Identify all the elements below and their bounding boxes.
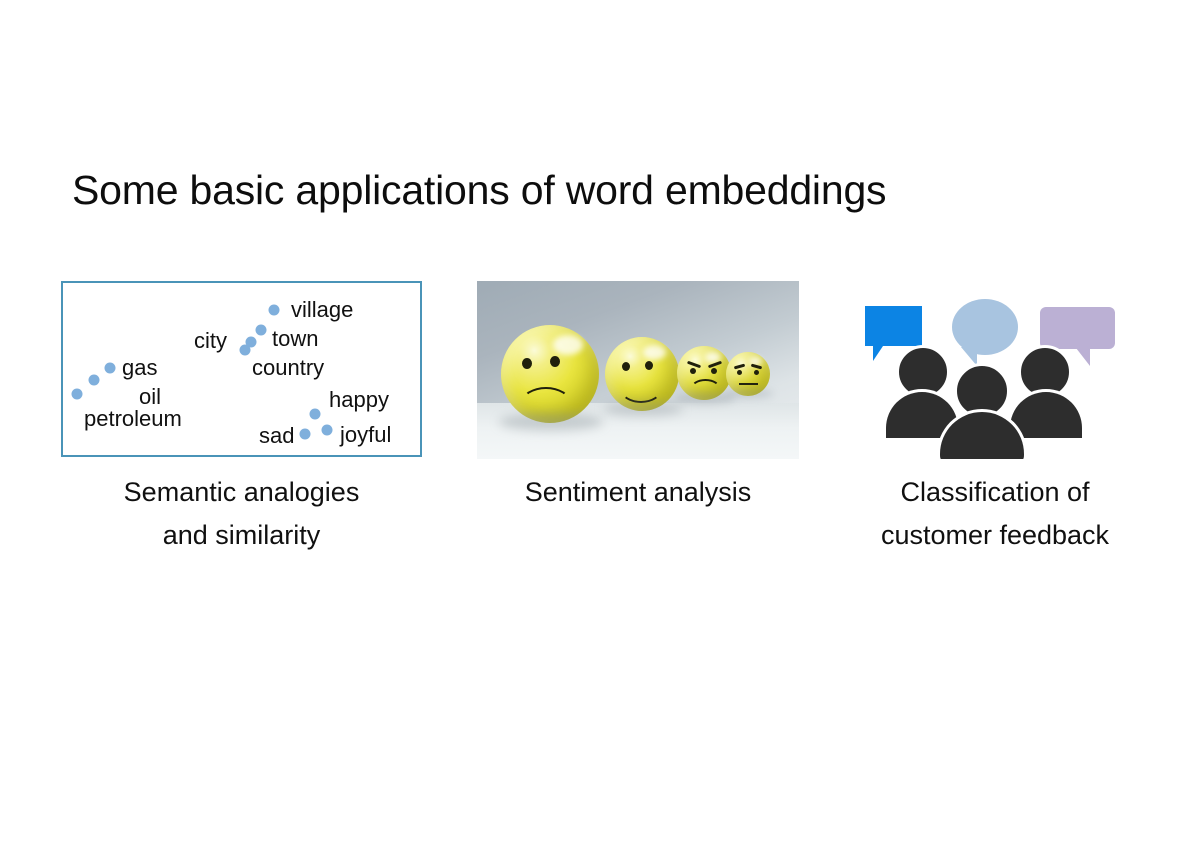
caption-line-1: Classification of xyxy=(851,471,1139,514)
scatter-dot-happy xyxy=(310,409,321,420)
ball-eye-right xyxy=(645,361,653,370)
caption-customer-feedback: Classification of customer feedback xyxy=(851,471,1139,557)
ball-shadow-happy xyxy=(603,402,683,416)
scatter-dot-village xyxy=(269,305,280,316)
caption-semantic-analogies: Semantic analogies and similarity xyxy=(61,471,422,557)
scatter-dot-joyful xyxy=(322,425,333,436)
caption-line-2: and similarity xyxy=(61,514,422,557)
caption-line-2: customer feedback xyxy=(851,514,1139,557)
ball-mouth-flat xyxy=(739,383,758,385)
word-embedding-scatter-plot: gas oil petroleum village city town coun… xyxy=(61,281,422,457)
speech-bubble-blue-icon xyxy=(865,306,922,346)
caption-sentiment-analysis: Sentiment analysis xyxy=(477,471,799,514)
ball-brow-left xyxy=(734,364,745,370)
customer-feedback-icon xyxy=(851,281,1139,459)
scatter-label-petroleum: petroleum xyxy=(84,408,182,430)
ball-highlight xyxy=(553,335,583,355)
bubble-tail xyxy=(873,346,883,361)
bubble-body xyxy=(865,306,922,346)
caption-line-1: Sentiment analysis xyxy=(477,471,799,514)
emoji-balls-photo xyxy=(477,281,799,459)
scatter-label-oil: oil xyxy=(139,386,161,408)
presentation-slide: Some basic applications of word embeddin… xyxy=(0,0,1200,848)
scatter-label-happy: happy xyxy=(329,389,389,411)
bubble-body xyxy=(1040,307,1115,349)
person-body xyxy=(937,409,1027,459)
scatter-dot-sad xyxy=(300,429,311,440)
person-silhouette-center xyxy=(937,363,1027,459)
ball-eye-left xyxy=(690,368,696,374)
ball-eye-left xyxy=(622,362,630,371)
scatter-dot-petroleum xyxy=(72,389,83,400)
scatter-label-village: village xyxy=(291,299,353,321)
ball-eye-right xyxy=(550,356,560,367)
scatter-label-city: city xyxy=(194,330,227,352)
slide-title: Some basic applications of word embeddin… xyxy=(72,165,886,215)
panel-semantic-analogies: gas oil petroleum village city town coun… xyxy=(61,281,422,457)
scatter-dot-oil xyxy=(89,375,100,386)
scatter-dot-country xyxy=(246,337,257,348)
panel-customer-feedback: Classification of customer feedback xyxy=(851,281,1139,459)
scatter-dot-town xyxy=(256,325,267,336)
ball-eye-right xyxy=(754,370,759,375)
ball-eye-left xyxy=(522,358,532,369)
speech-bubble-lavender-icon xyxy=(1040,307,1115,349)
ball-mouth-smile xyxy=(620,375,662,403)
emoji-ball-angry xyxy=(677,346,731,400)
caption-line-1: Semantic analogies xyxy=(61,471,422,514)
ball-shadow-worried xyxy=(724,389,773,398)
panel-sentiment-analysis: Sentiment analysis xyxy=(477,281,799,459)
emoji-ball-sad xyxy=(501,325,599,423)
emoji-ball-happy xyxy=(605,337,679,411)
scatter-label-gas: gas xyxy=(122,357,157,379)
scatter-label-sad: sad xyxy=(259,425,294,447)
ball-eye-left xyxy=(737,370,742,375)
scatter-label-town: town xyxy=(272,328,318,350)
scatter-label-country: country xyxy=(252,357,324,379)
ball-highlight xyxy=(643,345,666,360)
ball-eye-right xyxy=(711,368,717,374)
scatter-dot-gas xyxy=(105,363,116,374)
ball-shadow-sad xyxy=(499,413,603,431)
scatter-label-joyful: joyful xyxy=(340,424,391,446)
